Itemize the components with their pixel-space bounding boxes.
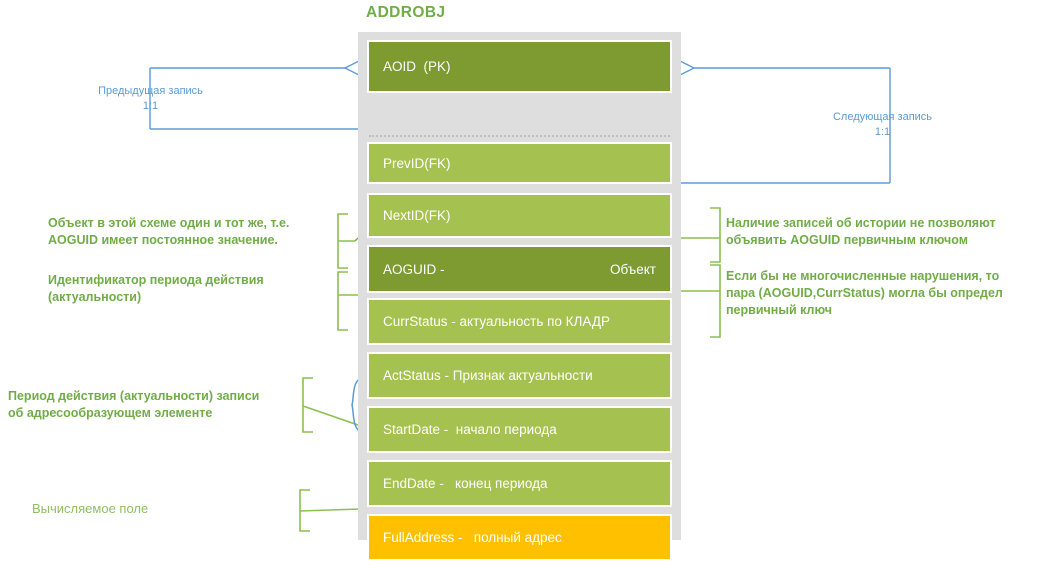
note-bracket-left-period xyxy=(303,378,358,432)
field-name: EndDate - конец периода xyxy=(383,476,548,491)
field-name: StartDate - начало периода xyxy=(383,422,557,437)
field-name: ActStatus - Признак актуальности xyxy=(383,368,593,383)
field-name: FullAddress - полный адрес xyxy=(383,530,562,545)
note-bracket-right-history xyxy=(681,208,720,262)
note-left-period-id: Идентификатор периода действия (актуальн… xyxy=(48,272,348,306)
field-name: AOID (PK) xyxy=(383,59,451,74)
field-row-nextid[interactable]: NextID(FK) xyxy=(367,193,672,238)
field-row-startdate[interactable]: StartDate - начало периода xyxy=(367,406,672,453)
field-row-fulladdress[interactable]: FullAddress - полный адрес xyxy=(367,514,672,561)
note-right-history: Наличие записей об истории не позволяют … xyxy=(726,215,1048,249)
relationship-label-next: Следующая запись 1:1 xyxy=(810,110,955,140)
field-row-aoguid[interactable]: AOGUID - Объект xyxy=(367,245,672,293)
field-name: PrevID(FK) xyxy=(383,156,451,171)
field-name: NextID(FK) xyxy=(383,208,451,223)
pk-separator xyxy=(369,135,670,137)
note-bracket-left-computed xyxy=(300,490,360,531)
field-row-enddate[interactable]: EndDate - конец периода xyxy=(367,460,672,507)
field-row-currstatus[interactable]: CurrStatus - актуальность по КЛАДР xyxy=(367,298,672,345)
entity-title: ADDROBJ xyxy=(366,4,445,22)
field-row-aoid[interactable]: AOID (PK) xyxy=(367,40,672,93)
note-left-aoguid: Объект в этой схеме один и тот же, т.е. … xyxy=(48,215,348,249)
field-row-actstatus[interactable]: ActStatus - Признак актуальности xyxy=(367,352,672,399)
diagram-canvas: ADDROBJ AOID (PK) PrevID(FK) NextID(FK) … xyxy=(0,0,1048,546)
note-left-computed: Вычисляемое поле xyxy=(32,500,282,517)
relationship-label-prev: Предыдущая запись 1:1 xyxy=(78,84,223,114)
field-name: CurrStatus - актуальность по КЛАДР xyxy=(383,314,610,329)
note-left-period: Период действия (актуальности) записи об… xyxy=(8,388,308,422)
field-note: Объект xyxy=(610,262,656,277)
field-name: AOGUID - xyxy=(383,262,445,277)
note-right-pair: Если бы не многочисленные нарушения, то … xyxy=(726,268,1048,319)
entity-addrobj: AOID (PK) PrevID(FK) NextID(FK) AOGUID -… xyxy=(358,32,681,540)
note-bracket-right-pair xyxy=(681,265,720,337)
field-row-previd[interactable]: PrevID(FK) xyxy=(367,142,672,184)
